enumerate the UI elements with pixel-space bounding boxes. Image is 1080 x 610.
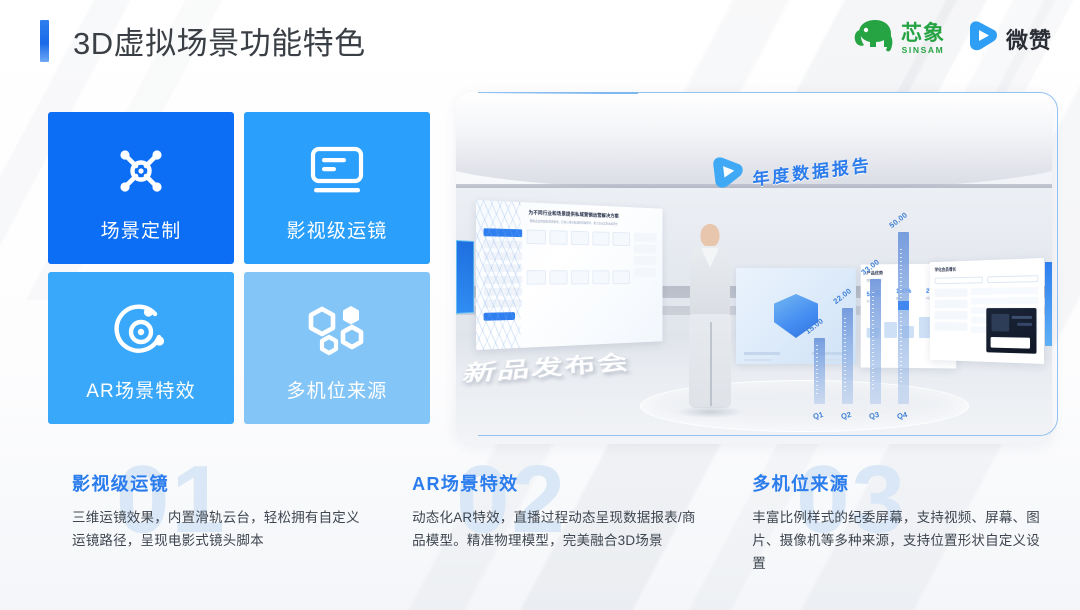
description-title: AR场景特效: [412, 470, 700, 496]
description-block-3: 03 多机位来源 丰富比例样式的纪委屏幕，支持视频、屏幕、图片、摄像机等多种来源…: [752, 470, 1052, 576]
feature-card-label: 场景定制: [101, 216, 182, 243]
left-screen-side-list: [634, 233, 657, 305]
presenter-legs: [689, 314, 731, 408]
list-item: [971, 297, 1038, 304]
tile: [527, 230, 546, 245]
virtual-presenter-avatar: [682, 224, 738, 410]
ar-bar-value-q3: 33.00: [859, 257, 881, 277]
tile: [592, 270, 609, 284]
scene-play-button-icon: [707, 152, 747, 192]
ar-bar-label-q3: Q3: [868, 410, 880, 421]
monitor-screen-icon: [306, 140, 368, 202]
description-title: 多机位来源: [752, 470, 1052, 496]
list-item: [935, 300, 968, 309]
right-blue-strip: [1045, 262, 1052, 346]
feature-card-scene-custom[interactable]: 场景定制: [48, 112, 234, 264]
tile: [613, 232, 630, 246]
ar-bar-q4: [898, 232, 909, 404]
far-left-panel: [456, 240, 474, 314]
nodes-network-icon: [111, 140, 171, 202]
tile: [527, 270, 546, 285]
video-thumbnail: [992, 314, 1010, 332]
ar-bar-q2: [842, 308, 853, 404]
side-row: [634, 244, 657, 253]
list-item: [935, 322, 968, 331]
right-screen-title: 学化会员增长: [935, 264, 1039, 273]
virtual-studio-preview[interactable]: 为不同行业和场景提供私域营销运营解决方案 帮助企业构建私域流量池，打通公域与私域…: [456, 92, 1052, 444]
weizan-label: 微赞: [1006, 23, 1052, 55]
ar-bar-label-q4: Q4: [896, 410, 908, 421]
wireframe-decoration: [476, 200, 520, 350]
elephant-icon: [852, 17, 894, 60]
ar-bar-q1: [814, 338, 825, 404]
panel-line: [744, 352, 780, 355]
title-wrap: 3D虚拟场景功能特色: [40, 18, 366, 63]
right-screen-tabs: [935, 275, 1039, 284]
logo-weizan: 微赞: [965, 19, 1052, 58]
tile: [549, 270, 567, 284]
feature-card-cinematic-camera[interactable]: 影视级运镜: [244, 112, 430, 264]
play-button-icon: [965, 19, 999, 58]
ar-bar-value-q4: 50.00: [887, 210, 909, 230]
description-row: 01 影视级运镜 三维运镜效果，内置滑轨云台，轻松拥有自定义运镜路径，呈现电影式…: [72, 470, 1052, 576]
tile: [592, 232, 609, 246]
video-caption-chip: [991, 337, 1030, 349]
description-body: 动态化AR特效，直播过程动态呈现数据报表/商品模型。精准物理模型，完美融合3D场…: [412, 506, 700, 552]
panel-line: [744, 359, 772, 361]
description-body: 三维运镜效果，内置滑轨云台，轻松拥有自定义运镜路径，呈现电影式镜头脚本: [72, 506, 360, 552]
scene-right-screen: 学化会员增长: [930, 258, 1044, 364]
logo-sinsam: 芯象 SINSAM: [852, 17, 945, 60]
ar-bar-q3: [870, 279, 881, 404]
description-block-1: 01 影视级运镜 三维运镜效果，内置滑轨云台，轻松拥有自定义运镜路径，呈现电影式…: [72, 470, 360, 576]
feature-card-ar-effects[interactable]: AR场景特效: [48, 272, 234, 424]
feature-card-multi-camera[interactable]: 多机位来源: [244, 272, 430, 424]
side-row: [634, 256, 657, 265]
ar-bar-label-q2: Q2: [840, 410, 852, 421]
logo-row: 芯象 SINSAM 微赞: [852, 17, 1052, 60]
page-title: 3D虚拟场景功能特色: [73, 18, 366, 63]
side-row: [634, 233, 657, 243]
tab: [935, 277, 983, 285]
orbit-target-icon: [111, 300, 171, 362]
list-item: [971, 287, 1038, 295]
feature-card-grid: 场景定制 影视级运镜 AR场景特效: [48, 112, 438, 430]
tile: [613, 271, 630, 285]
presenter-head: [701, 224, 720, 247]
ar-bar-highlight: [898, 301, 909, 310]
sinsam-label-cn: 芯象: [901, 23, 945, 44]
page-header: 3D虚拟场景功能特色 芯象 SINSAM: [0, 0, 1080, 84]
right-screen-video-card: [986, 308, 1036, 354]
side-row: [634, 268, 657, 277]
ar-bar-label-q1: Q1: [812, 410, 824, 421]
ar-bar-value-q2: 22.00: [831, 286, 853, 306]
video-line: [1017, 323, 1032, 326]
tab: [987, 275, 1039, 283]
scene-left-screen: 为不同行业和场景提供私域营销运营解决方案 帮助企业构建私域流量池，打通公域与私域…: [476, 200, 663, 350]
presenter-shadow: [677, 406, 743, 418]
sinsam-label-en: SINSAM: [902, 46, 945, 55]
feature-card-label: 多机位来源: [286, 376, 387, 403]
description-body: 丰富比例样式的纪委屏幕，支持视频、屏幕、图片、摄像机等多种来源，支持位置形状自定…: [752, 506, 1052, 576]
description-block-2: 02 AR场景特效 动态化AR特效，直播过程动态呈现数据报表/商品模型。精准物理…: [412, 470, 700, 576]
tile: [571, 231, 589, 245]
list-item: [935, 288, 968, 297]
tile: [549, 230, 567, 245]
presenter-lapel: [701, 248, 719, 268]
video-line: [1012, 316, 1032, 319]
tile: [571, 270, 589, 284]
feature-card-label: AR场景特效: [86, 376, 196, 403]
description-title: 影视级运镜: [72, 470, 360, 496]
feature-card-label: 影视级运镜: [286, 216, 387, 243]
sinsam-wordmark: 芯象 SINSAM: [901, 23, 945, 55]
ar-bar-chart: 15.00 22.00 33.00 50.00 Q1 Q2 Q3 Q4: [808, 212, 930, 422]
hexagon-cluster-icon: [306, 300, 368, 362]
title-accent-bar: [40, 20, 49, 62]
right-screen-left-list: [935, 288, 968, 332]
left-screen-tile-grid: [527, 230, 630, 307]
list-item: [935, 311, 968, 320]
